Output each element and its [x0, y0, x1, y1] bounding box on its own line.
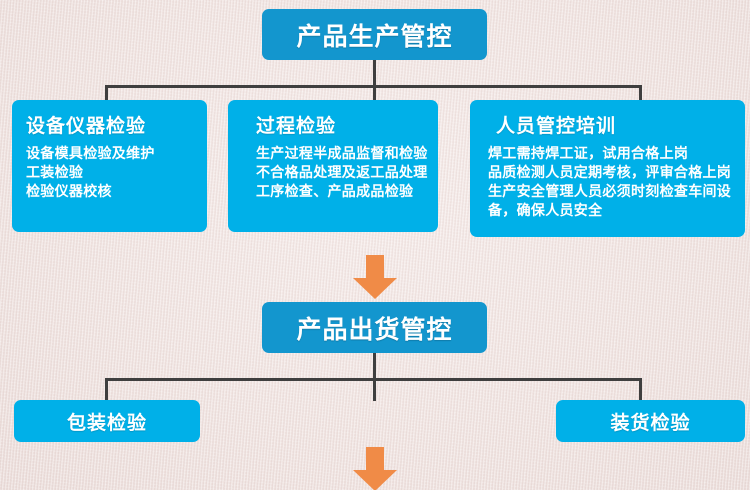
node-packaging-inspection[interactable]: 包装检验 [14, 400, 200, 442]
card-line: 工序检查、产品成品检验 [242, 183, 424, 202]
card-line: 工装检验 [26, 164, 193, 183]
card-line: 焊工需持焊工证，试用合格上岗 [484, 145, 731, 164]
card-line: 检验仪器校核 [26, 183, 193, 202]
connector-top-drop-left [105, 85, 108, 101]
connector-top-stem [373, 60, 376, 87]
card-line: 生产安全管理人员必须时刻检查车间设 [484, 183, 731, 202]
connector-top-drop-right [639, 85, 642, 101]
connector-bottom-drop-left [105, 378, 108, 401]
card-line: 品质检测人员定期考核，评审合格上岗 [484, 164, 731, 183]
card-heading: 人员管控培训 [484, 111, 731, 138]
node-loading-inspection[interactable]: 装货检验 [556, 400, 745, 442]
card-line: 备，确保人员安全 [484, 202, 731, 221]
connector-bottom-drop-center [373, 378, 376, 401]
down-arrow-icon [353, 447, 397, 490]
card-personnel-management-training[interactable]: 人员管控培训 焊工需持焊工证，试用合格上岗 品质检测人员定期考核，评审合格上岗 … [470, 100, 745, 237]
node-leaf-text: 装货检验 [610, 408, 690, 435]
node-product-production-control[interactable]: 产品生产管控 [262, 9, 487, 60]
node-title-text: 产品生产管控 [296, 17, 452, 53]
card-process-inspection[interactable]: 过程检验 生产过程半成品监督和检验 不合格品处理及返工品处理 工序检查、产品成品… [228, 100, 438, 232]
connector-bottom-stem [373, 353, 376, 380]
node-product-shipment-control[interactable]: 产品出货管控 [262, 302, 487, 353]
card-heading: 过程检验 [242, 111, 424, 138]
card-equipment-instrument-inspection[interactable]: 设备仪器检验 设备模具检验及维护 工装检验 检验仪器校核 [12, 100, 207, 232]
card-line: 生产过程半成品监督和检验 [242, 145, 424, 164]
node-title-text: 产品出货管控 [296, 310, 452, 346]
flowchart-canvas: 产品生产管控 设备仪器检验 设备模具检验及维护 工装检验 检验仪器校核 过程检验… [0, 0, 750, 490]
node-leaf-text: 包装检验 [67, 408, 147, 435]
down-arrow-icon [353, 255, 397, 299]
card-line: 设备模具检验及维护 [26, 145, 193, 164]
connector-top-drop-center [373, 85, 376, 101]
card-heading: 设备仪器检验 [26, 111, 193, 138]
card-line: 不合格品处理及返工品处理 [242, 164, 424, 183]
connector-bottom-drop-right [639, 378, 642, 401]
